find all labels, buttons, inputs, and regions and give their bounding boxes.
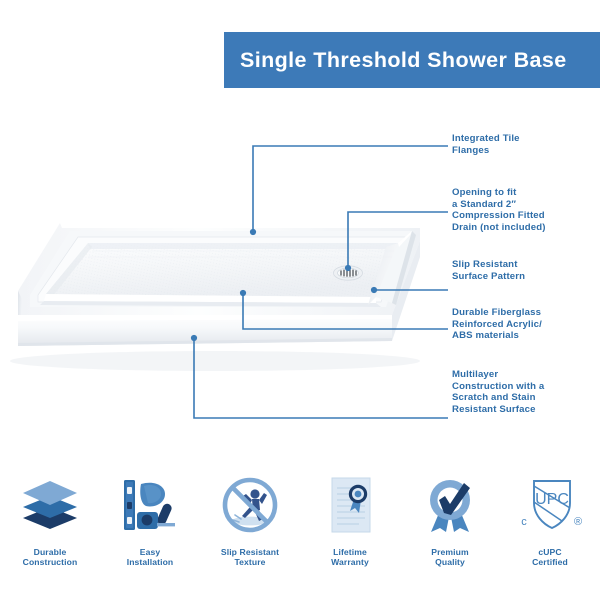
badge-slip-resistant-texture: Slip Resistant Texture (200, 468, 300, 588)
badge-label-slip-resistant-texture: Slip Resistant Texture (221, 547, 279, 568)
badge-durable-construction: Durable Construction (0, 468, 100, 588)
upc-shield-icon: UPC c ® (517, 468, 583, 542)
callout-label-integrated-tile-flanges: Integrated Tile Flanges (452, 133, 520, 156)
shower-base-illustration (0, 195, 440, 385)
svg-text:UPC: UPC (535, 491, 569, 508)
svg-text:®: ® (574, 516, 582, 528)
page-title: Single Threshold Shower Base (224, 48, 567, 73)
callout-label-multilayer: Multilayer Construction with a Scratch a… (452, 369, 544, 415)
badge-label-lifetime-warranty: Lifetime Warranty (331, 547, 369, 568)
no-slip-warning-icon (219, 468, 281, 542)
callout-label-drain-opening: Opening to fit a Standard 2″ Compression… (452, 187, 546, 233)
badge-lifetime-warranty: Lifetime Warranty (300, 468, 400, 588)
stacked-layers-icon (19, 468, 81, 542)
badge-label-easy-installation: Easy Installation (127, 547, 174, 568)
callout-label-slip-resistant: Slip Resistant Surface Pattern (452, 259, 525, 282)
svg-text:c: c (521, 516, 527, 528)
checkmark-rosette-icon (419, 468, 481, 542)
badge-label-premium-quality: Premium Quality (431, 547, 468, 568)
badge-label-durable-construction: Durable Construction (23, 547, 78, 568)
badge-premium-quality: Premium Quality (400, 468, 500, 588)
badge-label-cupc-certified: cUPC Certified (532, 547, 568, 568)
feature-badge-row: Durable Construction (0, 468, 600, 588)
infographic-canvas: Single Threshold Shower Base Integrated … (0, 0, 600, 600)
certificate-seal-icon (319, 468, 381, 542)
badge-cupc-certified: UPC c ® cUPC Certified (500, 468, 600, 588)
tools-level-trowel-icon (119, 468, 181, 542)
header-banner: Single Threshold Shower Base (224, 32, 600, 88)
drain-grate (334, 266, 363, 280)
callout-label-durable-fiberglass: Durable Fiberglass Reinforced Acrylic/ A… (452, 307, 542, 342)
badge-easy-installation: Easy Installation (100, 468, 200, 588)
